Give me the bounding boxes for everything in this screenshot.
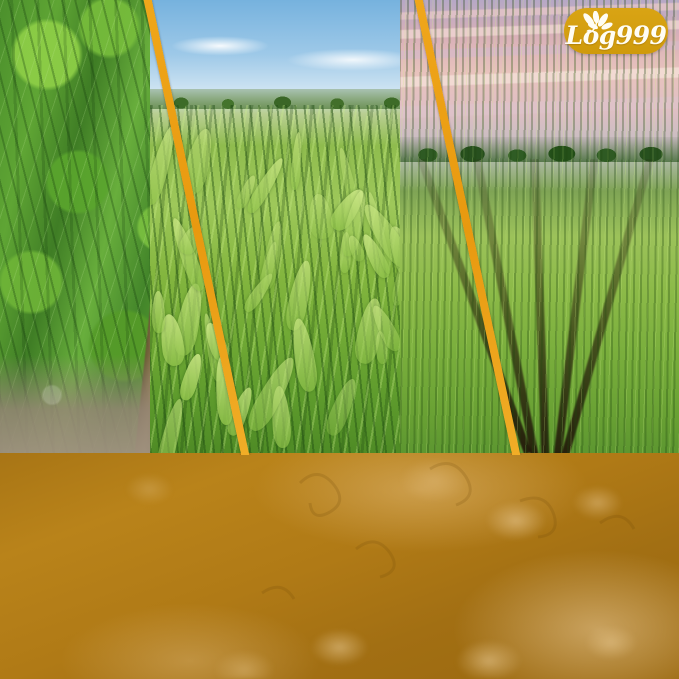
- photo-panel-crop-rows: [400, 0, 679, 455]
- turmeric-leaf-blade: [323, 376, 362, 438]
- crop-row-texture: [400, 0, 679, 455]
- turmeric-leaf-blade: [289, 317, 321, 393]
- turmeric-leaf-blade: [152, 290, 165, 332]
- decorative-swirls: [0, 453, 679, 679]
- logo-wordmark: Log999: [564, 8, 668, 54]
- info-band: HOW WE GROW OUR NATURAL INGREDIENTS Grow…: [0, 453, 679, 679]
- turmeric-leaf-blade: [306, 193, 334, 240]
- product-infographic-banner: Log999 HOW WE GROW OUR NATURAL INGREDIEN…: [0, 0, 679, 679]
- photo-strip: [0, 0, 679, 455]
- brand-logo[interactable]: Log999: [564, 8, 668, 54]
- turmeric-leaf-blade: [154, 397, 188, 455]
- turmeric-leaf-blade: [290, 132, 303, 190]
